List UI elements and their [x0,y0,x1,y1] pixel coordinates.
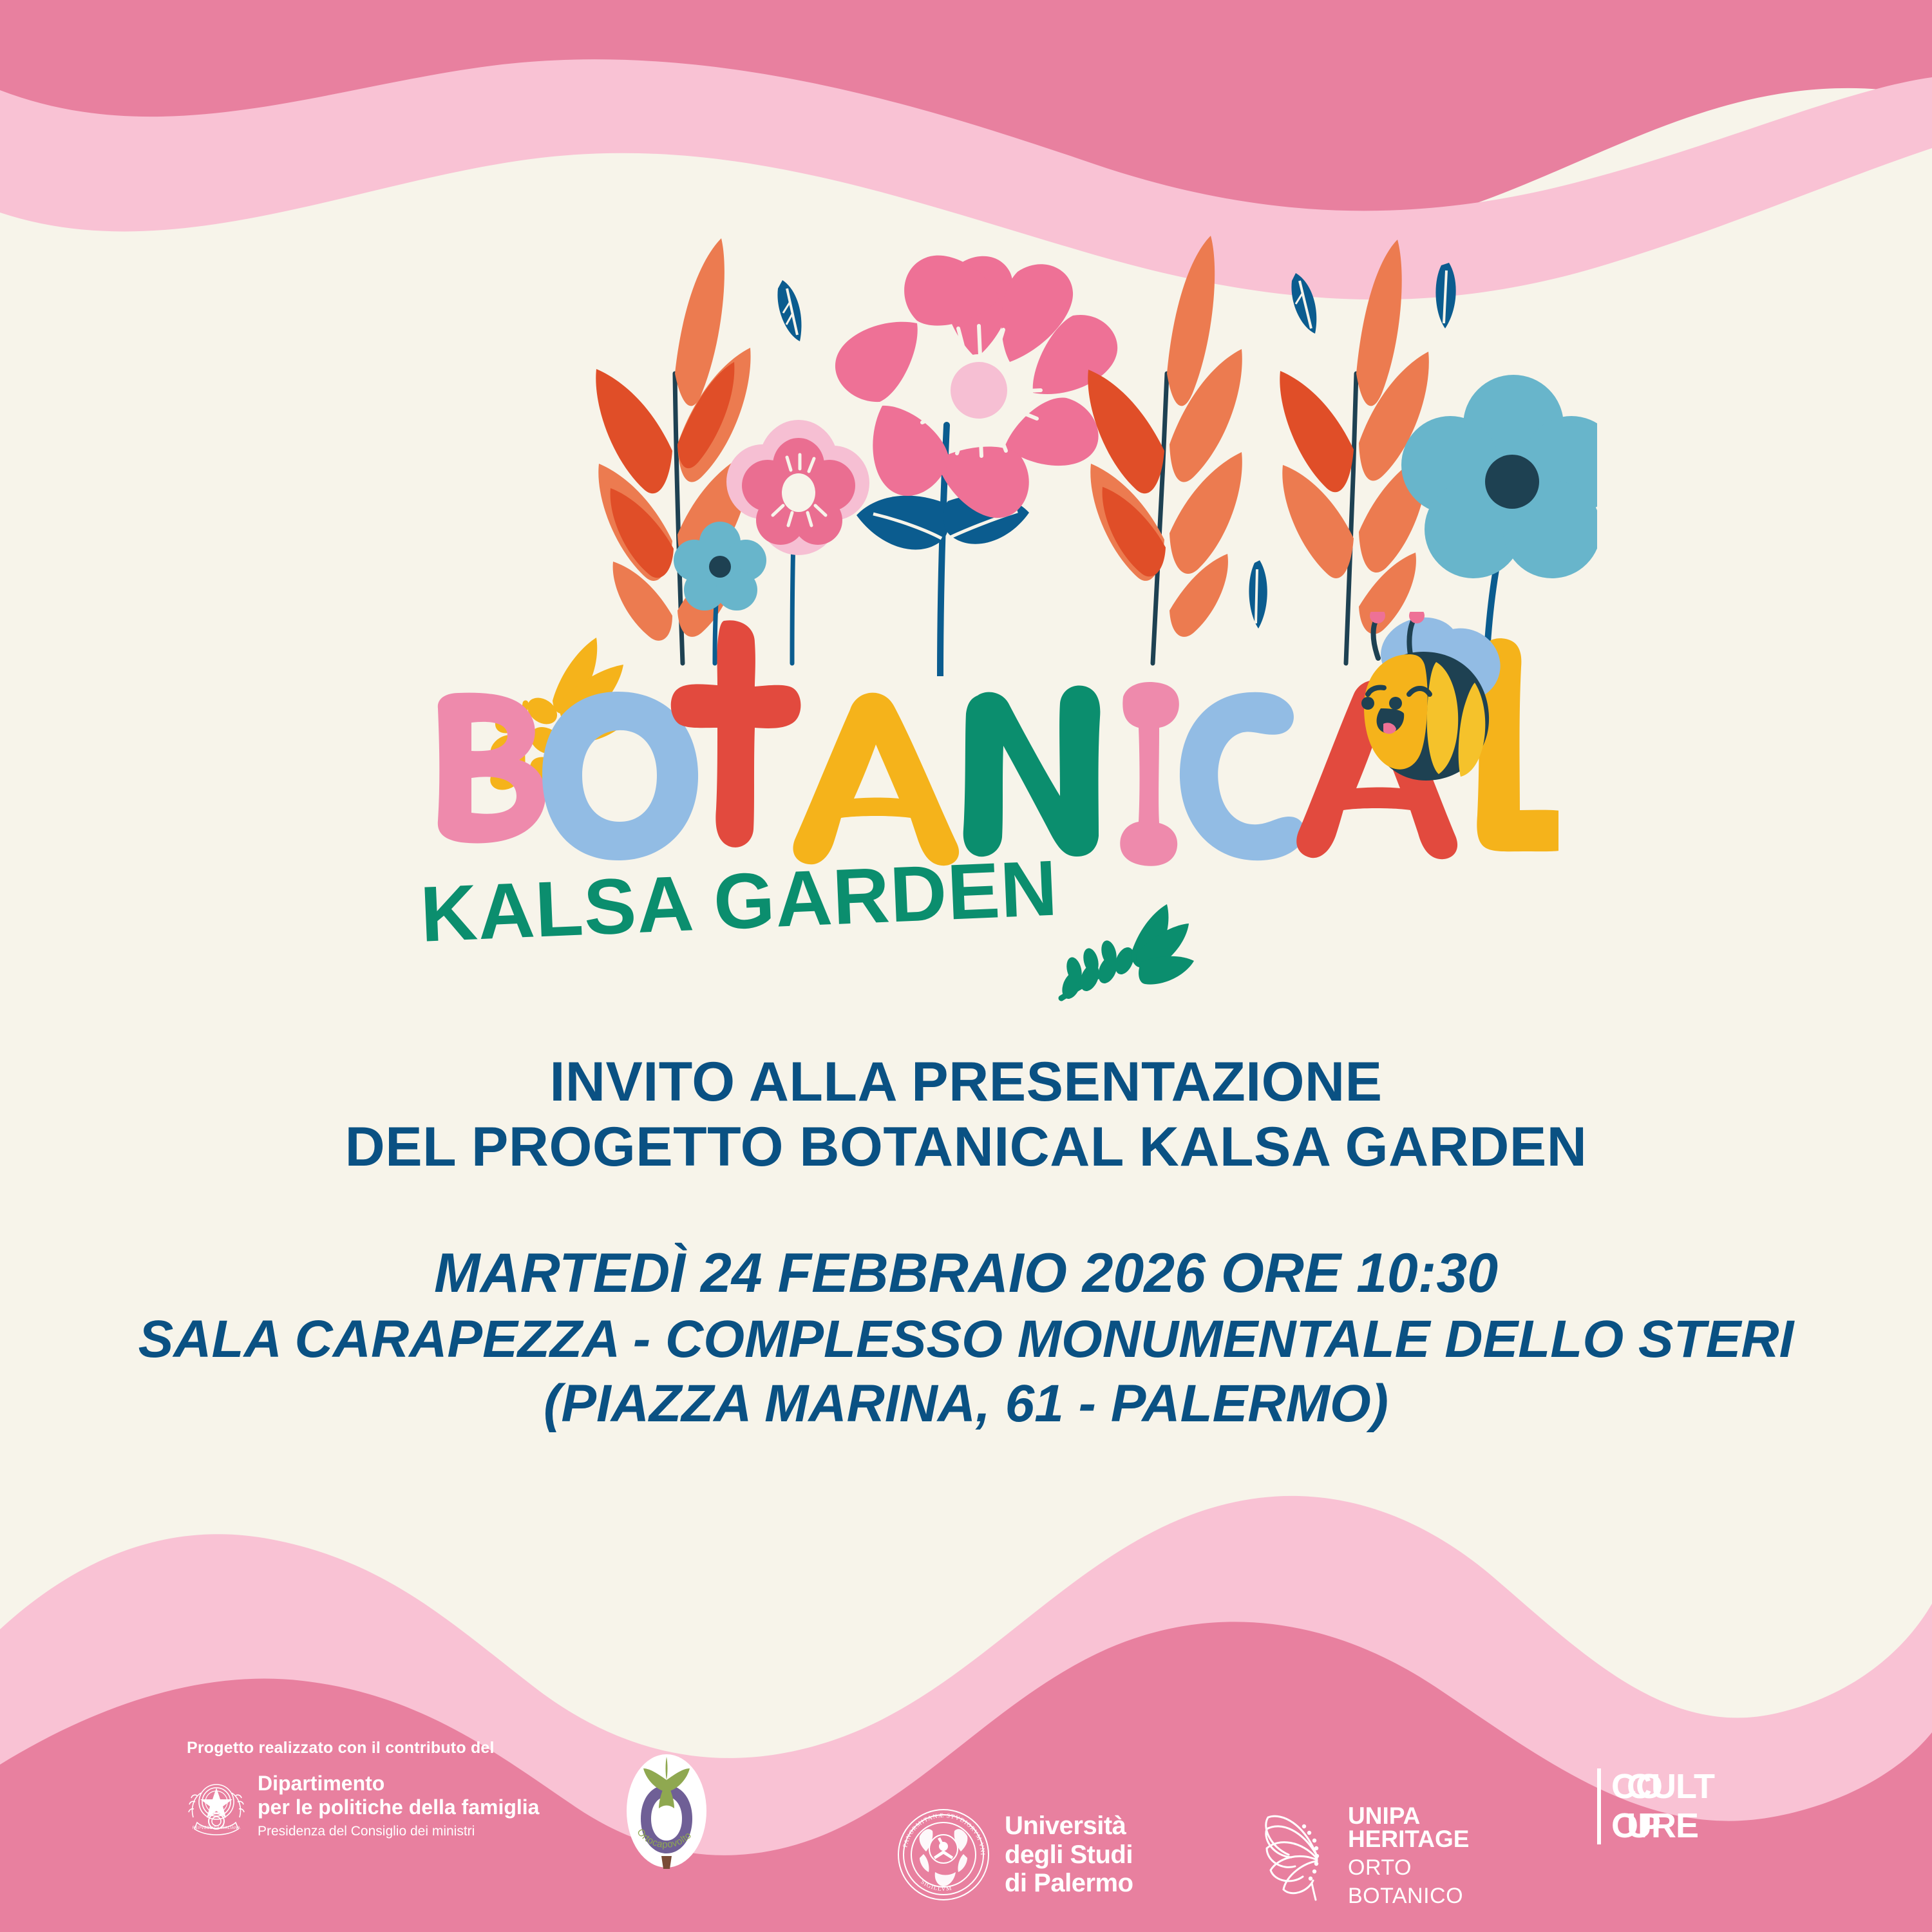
unipa-seal-icon: PANORMITANÆ STVDIORVM VNIVERSITATIS SIGI… [895,1806,992,1903]
unipa-line-3: di Palermo [1005,1869,1133,1898]
letter-A-1 [793,693,959,866]
event-date: MARTEDÌ 24 FEBBRAIO 2026 ORE 10:30 [0,1240,1932,1307]
leaf-sprig-green-icon [1050,895,1198,1011]
event-venue: SALA CARAPEZZA - COMPLESSO MONUMENTALE D… [0,1307,1932,1372]
letter-I [1120,682,1179,866]
heritage-line-1: UNIPA [1348,1804,1469,1828]
kalsa-garden-subtitle-group: KALSA GARDEN [399,857,1558,1024]
credit-heading: Progetto realizzato con il contributo de… [187,1739,539,1757]
letter-C [1180,692,1305,860]
floating-leaf-navy-1 [777,280,801,341]
event-copy-block: INVITO ALLA PRESENTAZIONE DEL PROGETTO B… [0,1050,1932,1436]
copy-spacer [0,1180,1932,1240]
fan-palm-logo-icon [1253,1811,1336,1901]
unipa-line-1: Università [1005,1812,1133,1841]
unipa-line-2: degli Studi [1005,1841,1133,1870]
invite-line-1: INVITO ALLA PRESENTAZIONE [0,1050,1932,1115]
invite-line-2-prefix: DEL PROGETTO [345,1116,800,1178]
invite-line-2: DEL PROGETTO BOTANICAL KALSA GARDEN [0,1115,1932,1180]
heritage-line-2: HERITAGE [1348,1828,1469,1851]
italian-republic-emblem-icon: REPVBBLICA ITALIANA [187,1774,246,1838]
partner-logo-unipa-heritage[interactable]: UNIPA HERITAGE ORTO BOTANICO [1253,1759,1469,1932]
botanical-wordmark [399,612,1558,869]
poster-canvas: KALSA GARDEN INVITO ALLA PRESENTAZIONE D… [0,0,1932,1932]
department-line-3: Presidenza del Consiglio dei ministri [258,1824,539,1839]
department-logo: REPVBBLICA ITALIANA Dipartimento per le … [187,1772,539,1840]
heritage-line-4: BOTANICO [1348,1884,1469,1908]
invite-line-2-project-name: BOTANICAL KALSA GARDEN [799,1116,1587,1178]
department-name-block: Dipartimento per le politiche della fami… [258,1772,539,1840]
coopculture-logo-icon: CO CULT OP URE [1597,1768,1714,1844]
coop-cell-4: URE [1627,1810,1714,1842]
floating-leaf-navy-3 [1435,263,1455,328]
coop-cell-3: CULT [1627,1771,1714,1803]
coop-divider [1597,1768,1601,1844]
coop-cell-2: OP [1611,1810,1616,1842]
partner-logo-coopculture[interactable]: CO CULT OP URE [1597,1768,1714,1932]
event-address: (PIAZZA MARINA, 61 - PALERMO) [0,1372,1932,1436]
unipa-name-block: Università degli Studi di Palermo [1005,1812,1133,1898]
partner-logo-ortocapovolto[interactable]: Ortocapovolto [615,1752,718,1932]
heritage-name-block: UNIPA HERITAGE ORTO BOTANICO [1348,1804,1469,1908]
department-line-2: per le politiche della famiglia [258,1795,539,1819]
letter-N [963,685,1101,857]
heritage-line-3: ORTO [1348,1856,1469,1879]
footer-logo-bar: Progetto realizzato con il contributo de… [0,1732,1932,1926]
letter-B [438,693,546,844]
partner-logo-unipa[interactable]: PANORMITANÆ STVDIORVM VNIVERSITATIS SIGI… [895,1758,1133,1932]
kalsa-garden-subtitle: KALSA GARDEN [419,843,1059,960]
department-line-1: Dipartimento [258,1772,539,1795]
branch-right-1 [1088,236,1242,663]
floral-illustration [489,213,1597,676]
svg-text:REPVBBLICA ITALIANA: REPVBBLICA ITALIANA [193,1826,241,1830]
funding-credit-block: Progetto realizzato con il contributo de… [187,1739,539,1840]
floating-leaf-navy-2 [1291,273,1316,334]
coop-cell-1: CO [1611,1771,1616,1803]
eggplant-circle-logo-icon: Ortocapovolto [615,1752,718,1874]
